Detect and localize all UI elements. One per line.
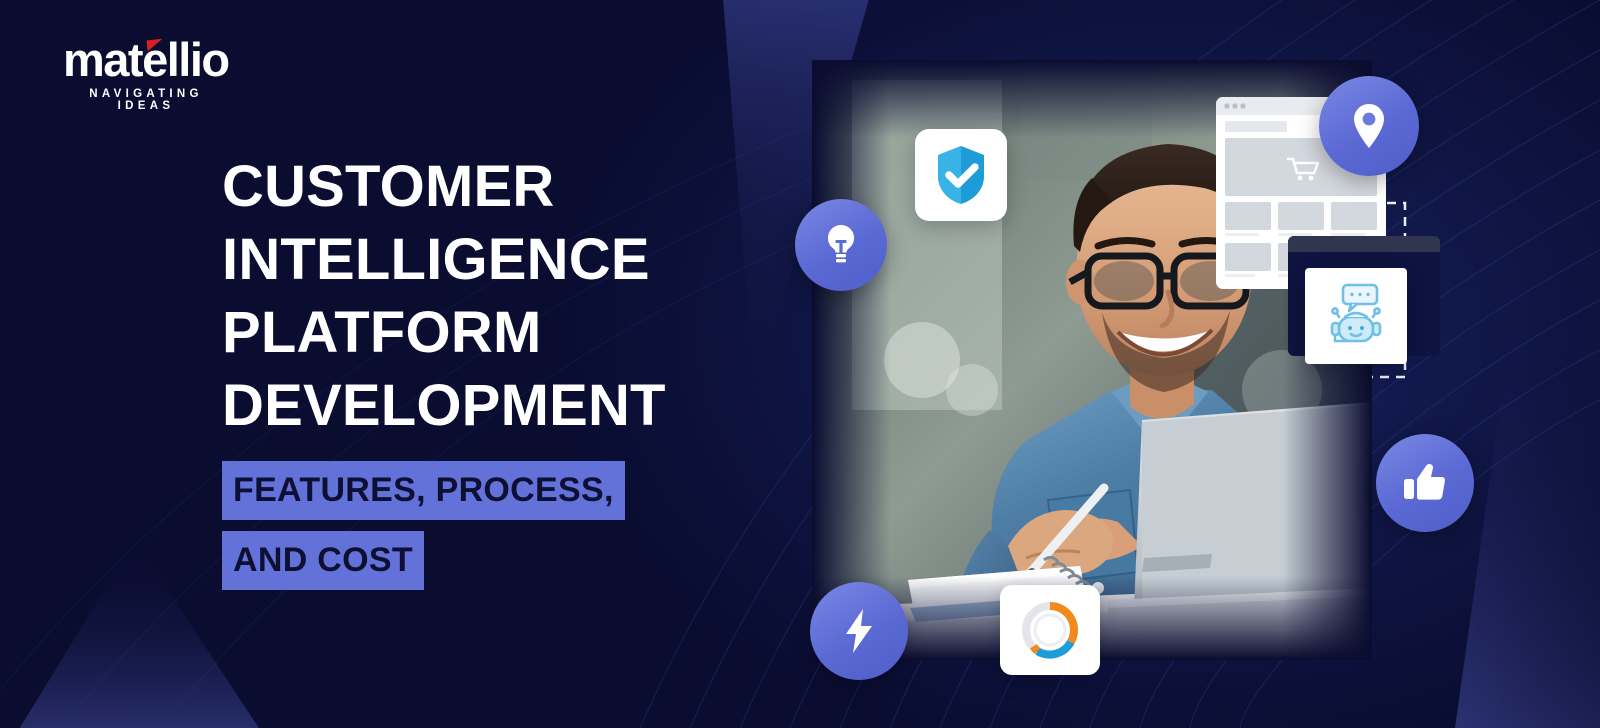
chatbot-icon (1323, 281, 1389, 351)
analytics-badge[interactable] (1000, 585, 1100, 675)
shield-check-icon (933, 144, 989, 206)
chatbot-badge[interactable] (1305, 268, 1407, 364)
speed-badge[interactable] (810, 582, 908, 680)
lightning-bolt-icon (842, 608, 876, 654)
location-badge[interactable] (1319, 76, 1419, 176)
location-pin-icon (1350, 102, 1388, 150)
dark-panel-titlebar (1288, 236, 1440, 252)
donut-chart-icon (1016, 596, 1084, 664)
thumbs-up-badge[interactable] (1376, 434, 1474, 532)
hero-banner: matellio NAVIGATING IDEAS CUSTOMER INTEL… (0, 0, 1600, 728)
lightbulb-icon (821, 223, 861, 267)
lightbulb-badge[interactable] (795, 199, 887, 291)
thumbs-up-icon (1402, 461, 1448, 505)
security-badge[interactable] (915, 129, 1007, 221)
